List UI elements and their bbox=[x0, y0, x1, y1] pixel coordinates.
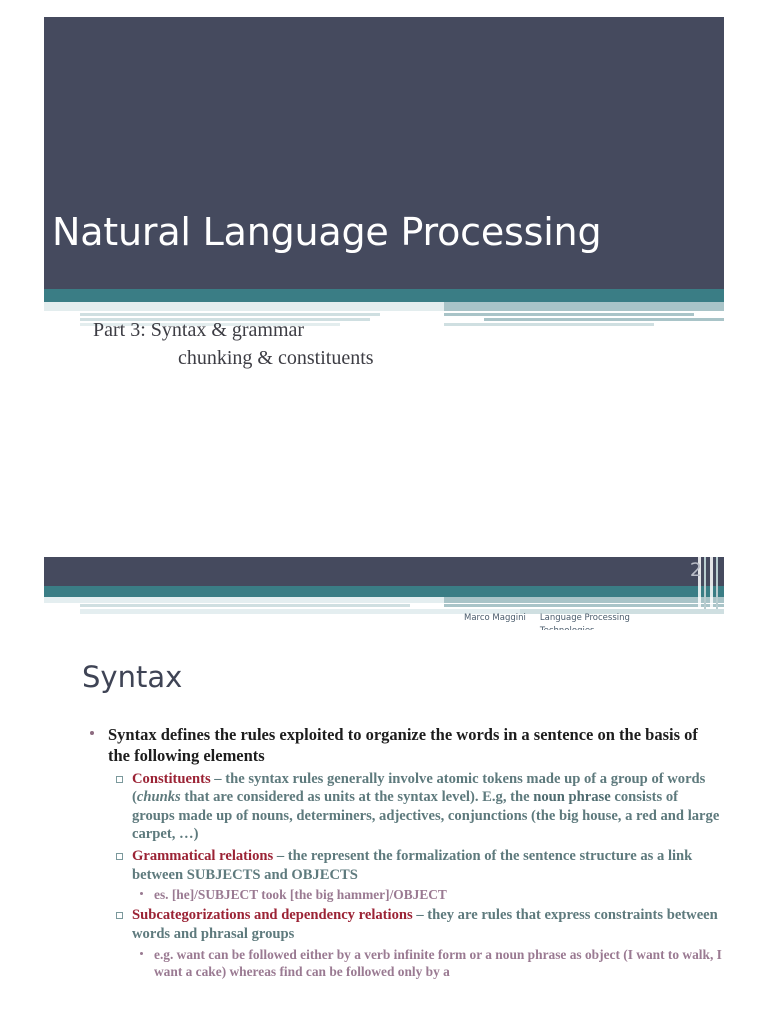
bullet-text: Syntax defines the rules exploited to or… bbox=[108, 725, 698, 765]
content-slide-title: Syntax bbox=[82, 660, 182, 694]
footer-author: Marco Maggini bbox=[464, 612, 526, 630]
band-stripe-4 bbox=[444, 313, 694, 316]
term-label: Grammatical relations bbox=[132, 848, 273, 864]
bullet-square-icon bbox=[116, 776, 123, 783]
list-item: Subcategorizations and dependency relati… bbox=[108, 906, 722, 980]
list-item: Grammatical relations – the represent th… bbox=[108, 847, 722, 903]
list-item: Syntax defines the rules exploited to or… bbox=[82, 724, 722, 980]
title-slide-subtitle: Part 3: Syntax & grammar chunking & cons… bbox=[93, 317, 653, 372]
content-slide: Syntax Syntax defines the rules exploite… bbox=[44, 640, 724, 1024]
bold-text: noun phrase bbox=[533, 789, 610, 805]
bullet-dot-icon bbox=[90, 731, 94, 735]
band-stripe-3 bbox=[80, 313, 380, 316]
footer-stripe-1 bbox=[44, 597, 444, 603]
footer-stripe-4 bbox=[444, 604, 724, 607]
footer-dark-bar bbox=[44, 557, 724, 586]
subtitle-line-2: chunking & constituents bbox=[93, 345, 653, 373]
bullet-list-level-2: Constituents – the syntax rules generall… bbox=[108, 770, 722, 981]
term-dash: – bbox=[273, 848, 288, 864]
term-dash: – bbox=[413, 907, 428, 923]
list-item: e.g. want can be followed either by a ve… bbox=[132, 946, 722, 981]
list-item: es. [he]/SUBJECT took [the big hammer]/O… bbox=[132, 886, 722, 903]
content-slide-body: Syntax defines the rules exploited to or… bbox=[82, 724, 722, 982]
footer-accent-bar-4 bbox=[716, 557, 718, 609]
term-label: Subcategorizations and dependency relati… bbox=[132, 907, 413, 923]
footer-stripe-3 bbox=[80, 604, 410, 607]
example-text: es. [he]/SUBJECT took [the big hammer]/O… bbox=[154, 887, 447, 902]
italic-text: chunks bbox=[137, 789, 181, 805]
footer-stripe-2 bbox=[444, 597, 724, 603]
title-slide-footer-band: 2 Marco Maggini Language Processing Tech… bbox=[44, 557, 724, 630]
footer-teal-bar bbox=[44, 586, 724, 597]
band-teal-bar bbox=[44, 289, 724, 302]
footer-course: Language Processing Technologies bbox=[540, 612, 630, 630]
slide-page-number: 2 bbox=[690, 559, 702, 581]
bullet-list-level-1: Syntax defines the rules exploited to or… bbox=[82, 724, 722, 980]
bullet-square-icon bbox=[116, 853, 123, 860]
bullet-list-level-3: es. [he]/SUBJECT took [the big hammer]/O… bbox=[132, 886, 722, 903]
example-text: e.g. want can be followed either by a ve… bbox=[154, 947, 722, 979]
term-label: Constituents bbox=[132, 771, 211, 787]
bullet-dot-icon bbox=[140, 952, 143, 955]
footer-stripe-5 bbox=[80, 609, 520, 614]
bullet-list-level-3: e.g. want can be followed either by a ve… bbox=[132, 946, 722, 981]
body-text-b: that are considered as units at the synt… bbox=[181, 789, 534, 805]
presentation-title: Natural Language Processing bbox=[52, 213, 712, 253]
footer-accent-bar-2 bbox=[704, 557, 706, 609]
list-item: Constituents – the syntax rules generall… bbox=[108, 770, 722, 844]
term-dash: – bbox=[211, 771, 226, 787]
band-stripe-2 bbox=[44, 302, 444, 311]
title-slide: Natural Language Processing Part 3: Synt… bbox=[44, 17, 724, 630]
bullet-square-icon bbox=[116, 912, 123, 919]
footer-metadata: Marco Maggini Language Processing Techno… bbox=[464, 612, 630, 630]
footer-accent-bar-3 bbox=[710, 557, 713, 609]
band-stripe-1 bbox=[444, 302, 724, 311]
subtitle-line-1: Part 3: Syntax & grammar bbox=[93, 319, 304, 341]
bullet-dot-icon bbox=[140, 892, 143, 895]
